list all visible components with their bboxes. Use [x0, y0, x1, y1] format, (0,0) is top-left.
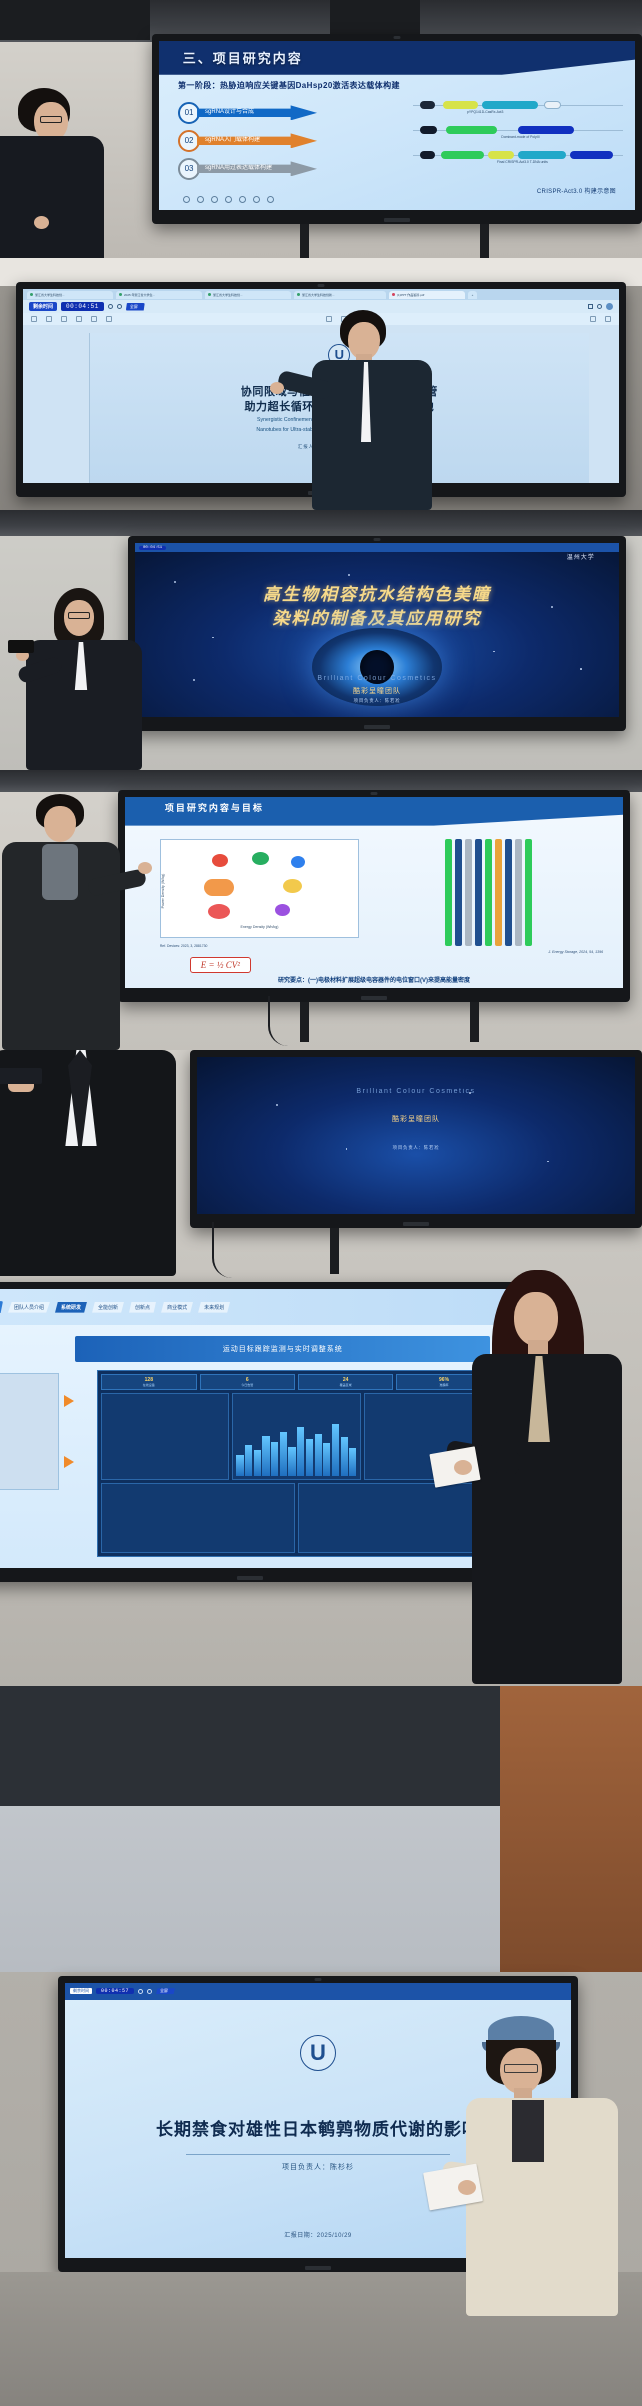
slide-tab-business-model[interactable]: 商业模式 [161, 1302, 193, 1313]
hand [34, 216, 49, 229]
bar [332, 1424, 339, 1476]
team-name: 酷彩呈瞳团队 [197, 1114, 635, 1124]
tab-favicon-icon [392, 293, 395, 296]
device-layer [475, 839, 482, 946]
kpi-card: 128在线设备 [101, 1374, 196, 1390]
bar [323, 1443, 330, 1476]
tv-brand-logo [384, 218, 410, 222]
data-point [275, 904, 290, 916]
fullscreen-icon[interactable] [225, 196, 232, 203]
panel-supercapacitor-presentation: 项目研究内容与目标 Power Density (W/kg) Energy De… [0, 770, 642, 1050]
kpi-row: 128在线设备 6今日告警 24覆盖区域 96%准确率 [101, 1374, 492, 1390]
tv-stand-leg [300, 1002, 309, 1042]
bar-chart [236, 1416, 356, 1476]
link-icon[interactable] [91, 316, 97, 322]
print-icon[interactable] [605, 316, 611, 322]
tv-stand-leg [300, 224, 309, 258]
plasmid-segment [443, 101, 477, 109]
presenter-4 [8, 794, 148, 1050]
tab-favicon-icon [119, 293, 122, 296]
bar [245, 1445, 252, 1476]
ceiling-strip [0, 510, 642, 536]
display-screen-5b[interactable]: 团队人员介绍 系统研发 全能创新 创新点 商业模式 未来规划 运动目标跟踪监测与… [0, 1282, 530, 1582]
countdown-timer: 00:04:57 [96, 1988, 134, 1994]
ceiling-panel-left [0, 0, 150, 40]
team-name: 酷彩呈瞳团队 [135, 686, 619, 696]
plasmid-segment [518, 151, 565, 159]
back-icon[interactable] [267, 196, 274, 203]
panel-zinc-iodine-presentation: 浙江省大学生科技创... 2025 年浙江省大学生... 浙江省大学生科技创..… [0, 258, 642, 510]
device-photo-thumbnail [0, 1373, 59, 1490]
tab-favicon-icon [30, 293, 33, 296]
zoom-out-icon[interactable] [108, 304, 113, 309]
plasmid-row: pYPQ141D-CasRx-Act3 [411, 98, 625, 112]
undo-icon[interactable] [183, 196, 190, 203]
new-tab-label: + [472, 293, 474, 297]
ragone-chart: Power Density (W/kg) Energy Density (Wh/… [160, 839, 359, 938]
data-point [283, 879, 302, 893]
slide-section-title: 运动目标跟踪监测与实时调整系统 [75, 1336, 490, 1361]
device-layer [445, 839, 452, 946]
remaining-time-label: 剩余时间 [70, 1988, 92, 1994]
face [44, 806, 76, 842]
tab-label: 2025 年浙江省大学生... [124, 293, 155, 297]
device-layer [455, 839, 462, 946]
bar-chart-card [232, 1393, 360, 1480]
data-point [252, 852, 269, 865]
display-screen-5a[interactable]: Brilliant Colour Cosmetics 酷彩呈瞳团队 项目负责人：… [190, 1050, 642, 1228]
zoom-out-icon[interactable] [138, 1989, 143, 1994]
remote-control[interactable] [0, 1068, 42, 1084]
bookmark-icon[interactable] [588, 304, 593, 309]
data-point [204, 879, 234, 896]
sidebar-icon[interactable] [31, 316, 37, 322]
step-number: 01 [178, 102, 200, 124]
slide-header-title: 项目研究内容与目标 [165, 801, 264, 814]
presenter-1 [0, 88, 118, 258]
plasmid-segment [420, 101, 435, 109]
data-point [212, 854, 228, 867]
step-number: 02 [178, 130, 200, 152]
kpi-label: 今日告警 [241, 1383, 253, 1387]
device-layer [495, 839, 502, 946]
plasmid-segment [446, 126, 497, 134]
slide-cosmetic-lens-continued: Brilliant Colour Cosmetics 酷彩呈瞳团队 项目负责人：… [197, 1057, 635, 1214]
slide-header-band: 项目研究内容与目标 [125, 797, 623, 826]
bar [262, 1436, 269, 1477]
flow-arrow-icon [64, 1456, 74, 1468]
browser-tab-strip[interactable]: 浙江省大学生科技创... 2025 年浙江省大学生... 浙江省大学生科技创..… [23, 289, 619, 300]
chart-xlabel: Energy Density (Wh/kg) [161, 925, 358, 929]
bar [349, 1448, 356, 1476]
device-layer [525, 839, 532, 946]
pen-icon[interactable] [211, 196, 218, 203]
slide-supercapacitor: 项目研究内容与目标 Power Density (W/kg) Energy De… [125, 797, 623, 988]
tv-stand-leg [330, 1228, 339, 1274]
timer-badge: 00:04:51 [139, 546, 166, 550]
bar [288, 1447, 295, 1476]
kpi-label: 在线设备 [143, 1383, 155, 1387]
slide-tab-future-plan[interactable]: 未来规划 [198, 1302, 230, 1313]
screen-surface-3: 00:04:51 温州大学 高生物相容抗水结构色美瞳 染料的制备及其应用研究 B… [135, 543, 619, 717]
presenter-6 [452, 2016, 642, 2316]
glasses-icon [68, 612, 90, 619]
bar [297, 1427, 304, 1476]
kpi-label: 准确率 [440, 1383, 449, 1387]
slide-band-title: 三、项目研究内容 [183, 48, 303, 67]
divider [186, 2154, 449, 2155]
flow-arrow-icon [64, 1395, 74, 1407]
panel-quail-presentation: 剩余时间 00:04:57 全屏 U 长期禁食对雄性日本鹌鹑物质代谢的影响 项目… [0, 1686, 642, 2406]
plasmid-row: Final CRISPR-Act3.0 T-DNA units [411, 148, 625, 162]
browser-tab-active[interactable]: (1)PPT 作品答辩.pdf [389, 291, 465, 299]
zoom-in-icon[interactable] [147, 1989, 152, 1994]
hand [454, 1460, 472, 1475]
tv-brand-logo [364, 725, 390, 729]
plasmid-caption: pYPQ141D-CasRx-Act3 [467, 110, 503, 114]
project-leader: 项目负责人：陈若凇 [135, 698, 619, 704]
camera-icon [371, 792, 378, 795]
step-label: sgRNA入门载体构建 [205, 134, 260, 143]
torso [0, 136, 104, 258]
plasmid-caption: Dominant-mode of PolyIII [501, 135, 539, 139]
data-point [208, 904, 230, 919]
slide-stage-line: 第一阶段：热胁迫响应关键基因DaHsp20激活表达载体构建 [178, 80, 400, 91]
step-arrow: sgRNA入门载体构建 [197, 133, 317, 148]
step-label: sgRNA设计与合成 [205, 106, 254, 115]
device-layer [505, 839, 512, 946]
screen-surface-4: 项目研究内容与目标 Power Density (W/kg) Energy De… [125, 797, 623, 988]
kpi-label: 覆盖区域 [340, 1383, 352, 1387]
screen-surface-5a: Brilliant Colour Cosmetics 酷彩呈瞳团队 项目负责人：… [197, 1057, 635, 1214]
countdown-timer: 00:04:51 [61, 302, 104, 311]
chart-annotation: Ref. Devices: 2023, 3, 2881730 [160, 944, 208, 948]
tv-brand-logo [361, 996, 387, 1000]
step-arrow: sgRNA用过表达载体构建 [197, 161, 317, 176]
face [514, 1292, 558, 1346]
panel-monitoring-system-presentation: Brilliant Colour Cosmetics 酷彩呈瞳团队 项目负责人：… [0, 1050, 642, 1686]
step-label: sgRNA用过表达载体构建 [205, 162, 272, 171]
camera-icon [318, 284, 325, 287]
presenter-5a [0, 1050, 190, 1278]
tv-brand-logo [305, 2266, 331, 2270]
ceiling-strip [0, 770, 642, 792]
tab-label: 浙江省大学生科技创新... [302, 293, 335, 297]
collage-page: 三、项目研究内容 第一阶段：热胁迫响应关键基因DaHsp20激活表达载体构建 0… [0, 0, 642, 2406]
kpi-card: 24覆盖区域 [298, 1374, 393, 1390]
tv-brand-logo [403, 1222, 429, 1226]
bar [341, 1437, 348, 1476]
tab-label: (1)PPT 作品答辩.pdf [397, 293, 424, 297]
glasses-icon [40, 116, 62, 123]
plasmid-segment [420, 151, 435, 159]
glasses-icon [504, 2064, 538, 2073]
search-icon[interactable] [76, 316, 82, 322]
university-name: 温州大学 [567, 552, 595, 561]
filter-icon[interactable] [46, 316, 52, 322]
line-chart [105, 1397, 225, 1476]
browser-tab[interactable]: 2025 年浙江省大学生... [116, 291, 202, 299]
extensions-icon[interactable] [597, 304, 602, 309]
panel-crispr-presentation: 三、项目研究内容 第一阶段：热胁迫响应关键基因DaHsp20激活表达载体构建 0… [0, 0, 642, 258]
fullscreen-button[interactable]: 全屏 [126, 303, 145, 311]
camera-icon [394, 36, 401, 39]
energy-equation: E = ½ CV² [190, 957, 251, 973]
slide-nav-bar[interactable]: 团队人员介绍 系统研发 全能创新 创新点 商业模式 未来规划 [0, 1289, 523, 1325]
slide-cosmetic-lens: 00:04:51 温州大学 高生物相容抗水结构色美瞳 染料的制备及其应用研究 B… [135, 543, 619, 717]
download-icon[interactable] [590, 316, 596, 322]
device-layer [515, 839, 522, 946]
bar [271, 1442, 278, 1477]
rotate-icon[interactable] [61, 316, 67, 322]
bar [254, 1450, 261, 1476]
slide-title-line1: 高生物相容抗水结构色美瞳 [135, 580, 619, 605]
plasmid-segment [482, 101, 538, 109]
torso [472, 1354, 622, 1684]
line-chart-card [101, 1393, 229, 1480]
chart-ylabel: Power Density (W/kg) [161, 873, 165, 908]
tab-favicon-icon [208, 293, 211, 296]
slide-top-bar[interactable]: 00:04:51 [135, 543, 619, 552]
bar [306, 1439, 313, 1476]
plasmid-caption: Final CRISPR-Act3.0 T-DNA units [497, 160, 548, 164]
screen-surface-1: 三、项目研究内容 第一阶段：热胁迫响应关键基因DaHsp20激活表达载体构建 0… [159, 41, 635, 210]
browser-tab[interactable]: 浙江省大学生科技创新... [294, 291, 386, 299]
bar [315, 1434, 322, 1476]
wood-column [500, 1686, 642, 1972]
slide-english-subtitle: Brilliant Colour Cosmetics [135, 675, 619, 682]
project-leader: 项目负责人：陈若凇 [197, 1145, 635, 1151]
device-layer [465, 839, 472, 946]
panel-cosmetic-lens-presentation: 00:04:51 温州大学 高生物相容抗水结构色美瞳 染料的制备及其应用研究 B… [0, 510, 642, 770]
presenter-3 [22, 588, 182, 770]
fullscreen-button[interactable]: 全屏 [156, 1988, 175, 1994]
shirt [42, 844, 78, 900]
tv-stand-leg [470, 1002, 479, 1042]
slide-footer-text: 研究要点：(一)电极材料扩展超级电容器件的电位窗口(V)来提高能量密度 [125, 975, 623, 984]
plasmid-map-diagram: pYPQ141D-CasRx-Act3 Dominant-mode of Pol… [411, 98, 625, 186]
tab-label: 浙江省大学生科技创... [213, 293, 243, 297]
slide-tab-innovation-points[interactable]: 创新点 [129, 1302, 156, 1313]
settings-icon[interactable] [253, 196, 260, 203]
slide-monitoring-system: 团队人员介绍 系统研发 全能创新 创新点 商业模式 未来规划 运动目标跟踪监测与… [0, 1289, 523, 1568]
plasmid-segment [420, 126, 437, 134]
hand [138, 862, 152, 874]
table-card [101, 1483, 295, 1553]
step-number: 03 [178, 158, 200, 180]
plasmid-segment [441, 151, 484, 159]
brand-logo [0, 1301, 3, 1313]
browser-tab[interactable]: 浙江省大学生科技创... [27, 291, 113, 299]
presenter-5b [452, 1270, 642, 1686]
new-tab-button[interactable]: + [468, 291, 477, 299]
plasmid-row: Dominant-mode of PolyIII [411, 123, 625, 137]
dashboard-charts-row2 [101, 1483, 492, 1553]
plasmid-segment [518, 126, 574, 134]
data-point [291, 856, 305, 868]
plasmid-segment [544, 101, 561, 109]
power-cable [212, 1222, 232, 1278]
camera-icon [374, 538, 381, 541]
step-arrow: sgRNA设计与合成 [197, 105, 317, 120]
tab-favicon-icon [297, 293, 300, 296]
tv-stand-leg [480, 224, 489, 258]
university-logo: U [300, 2035, 336, 2071]
slide-crispr: 三、项目研究内容 第一阶段：热胁迫响应关键基因DaHsp20激活表达载体构建 0… [159, 41, 635, 210]
display-screen-3[interactable]: 00:04:51 温州大学 高生物相容抗水结构色美瞳 染料的制备及其应用研究 B… [128, 536, 626, 731]
plasmid-segment [488, 151, 514, 159]
zoom-in-icon[interactable] [117, 304, 122, 309]
remaining-time-label: 剩余时间 [29, 302, 57, 311]
tv-brand-logo [237, 1576, 263, 1580]
more-icon[interactable] [106, 316, 112, 322]
bar [236, 1455, 243, 1476]
presenter-2 [300, 310, 500, 510]
shirt [512, 2100, 544, 2162]
remote-control[interactable] [8, 640, 34, 653]
camera-icon [315, 1978, 322, 1981]
screen-surface-5b: 团队人员介绍 系统研发 全能创新 创新点 商业模式 未来规划 运动目标跟踪监测与… [0, 1289, 523, 1568]
slide-tab-innovation[interactable]: 全能创新 [92, 1302, 124, 1313]
display-screen-1[interactable]: 三、项目研究内容 第一阶段：热胁迫响应关键基因DaHsp20激活表达载体构建 0… [152, 34, 642, 224]
display-screen-4[interactable]: 项目研究内容与目标 Power Density (W/kg) Energy De… [118, 790, 630, 1002]
hand [270, 382, 284, 394]
kpi-card: 6今日告警 [200, 1374, 295, 1390]
slide-footer-caption: CRISPR-Act3.0 构建示意图 [537, 186, 616, 195]
eraser-icon[interactable] [239, 196, 246, 203]
slide-top-bar[interactable]: 剩余时间 00:04:57 全屏 [65, 1983, 571, 2000]
avatar[interactable] [606, 303, 613, 310]
slide-tab-team[interactable]: 团队人员介绍 [8, 1302, 50, 1313]
slide-tab-system-dev[interactable]: 系统研发 [55, 1302, 87, 1313]
reference-text: J. Energy Storage, 2024, 54, 1396 [548, 950, 603, 954]
redo-icon[interactable] [197, 196, 204, 203]
bar [280, 1432, 287, 1476]
tab-label: 浙江省大学生科技创... [35, 293, 65, 297]
neck [528, 1340, 548, 1354]
plasmid-segment [570, 151, 613, 159]
hand [458, 2180, 476, 2195]
slide-toolbar[interactable] [183, 196, 274, 203]
browser-tab[interactable]: 浙江省大学生科技创... [205, 291, 291, 299]
slide-title-line2: 染料的制备及其应用研究 [135, 604, 619, 629]
slide-english-subtitle: Brilliant Colour Cosmetics [197, 1088, 635, 1095]
device-schematic [374, 839, 603, 946]
device-layer [485, 839, 492, 946]
